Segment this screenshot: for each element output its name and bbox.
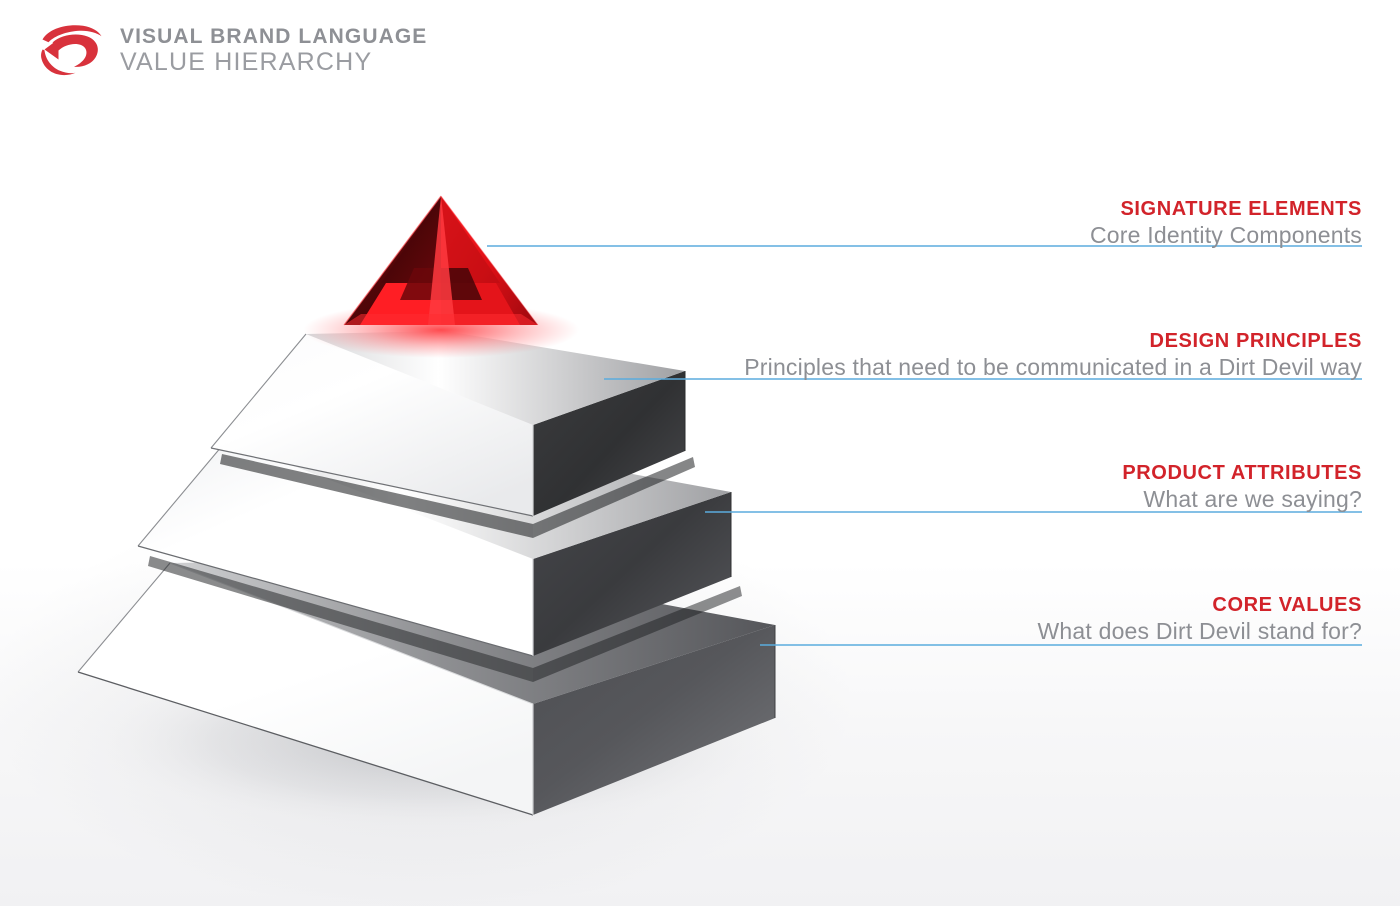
label-title: CORE VALUES	[602, 594, 1362, 617]
header: VISUAL BRAND LANGUAGE VALUE HIERARCHY	[34, 22, 427, 78]
page-background	[0, 0, 1400, 906]
label-subtitle: What does Dirt Devil stand for?	[1038, 618, 1363, 646]
label-title: DESIGN PRINCIPLES	[602, 330, 1362, 353]
label-subtitle: What are we saying?	[1143, 486, 1362, 514]
label-title: PRODUCT ATTRIBUTES	[602, 462, 1362, 485]
label-block-design-principles: DESIGN PRINCIPLES Principles that need t…	[602, 330, 1362, 382]
label-block-core-values: CORE VALUES What does Dirt Devil stand f…	[602, 594, 1362, 646]
dirt-devil-swoosh-icon	[34, 22, 106, 78]
label-subtitle: Principles that need to be communicated …	[744, 354, 1362, 382]
page-title: VISUAL BRAND LANGUAGE	[120, 26, 427, 47]
header-text-group: VISUAL BRAND LANGUAGE VALUE HIERARCHY	[120, 26, 427, 75]
label-block-signature-elements: SIGNATURE ELEMENTS Core Identity Compone…	[602, 198, 1362, 250]
page-subtitle: VALUE HIERARCHY	[120, 50, 427, 75]
label-block-product-attributes: PRODUCT ATTRIBUTES What are we saying?	[602, 462, 1362, 514]
label-subtitle: Core Identity Components	[1090, 222, 1362, 250]
label-title: SIGNATURE ELEMENTS	[602, 198, 1362, 221]
